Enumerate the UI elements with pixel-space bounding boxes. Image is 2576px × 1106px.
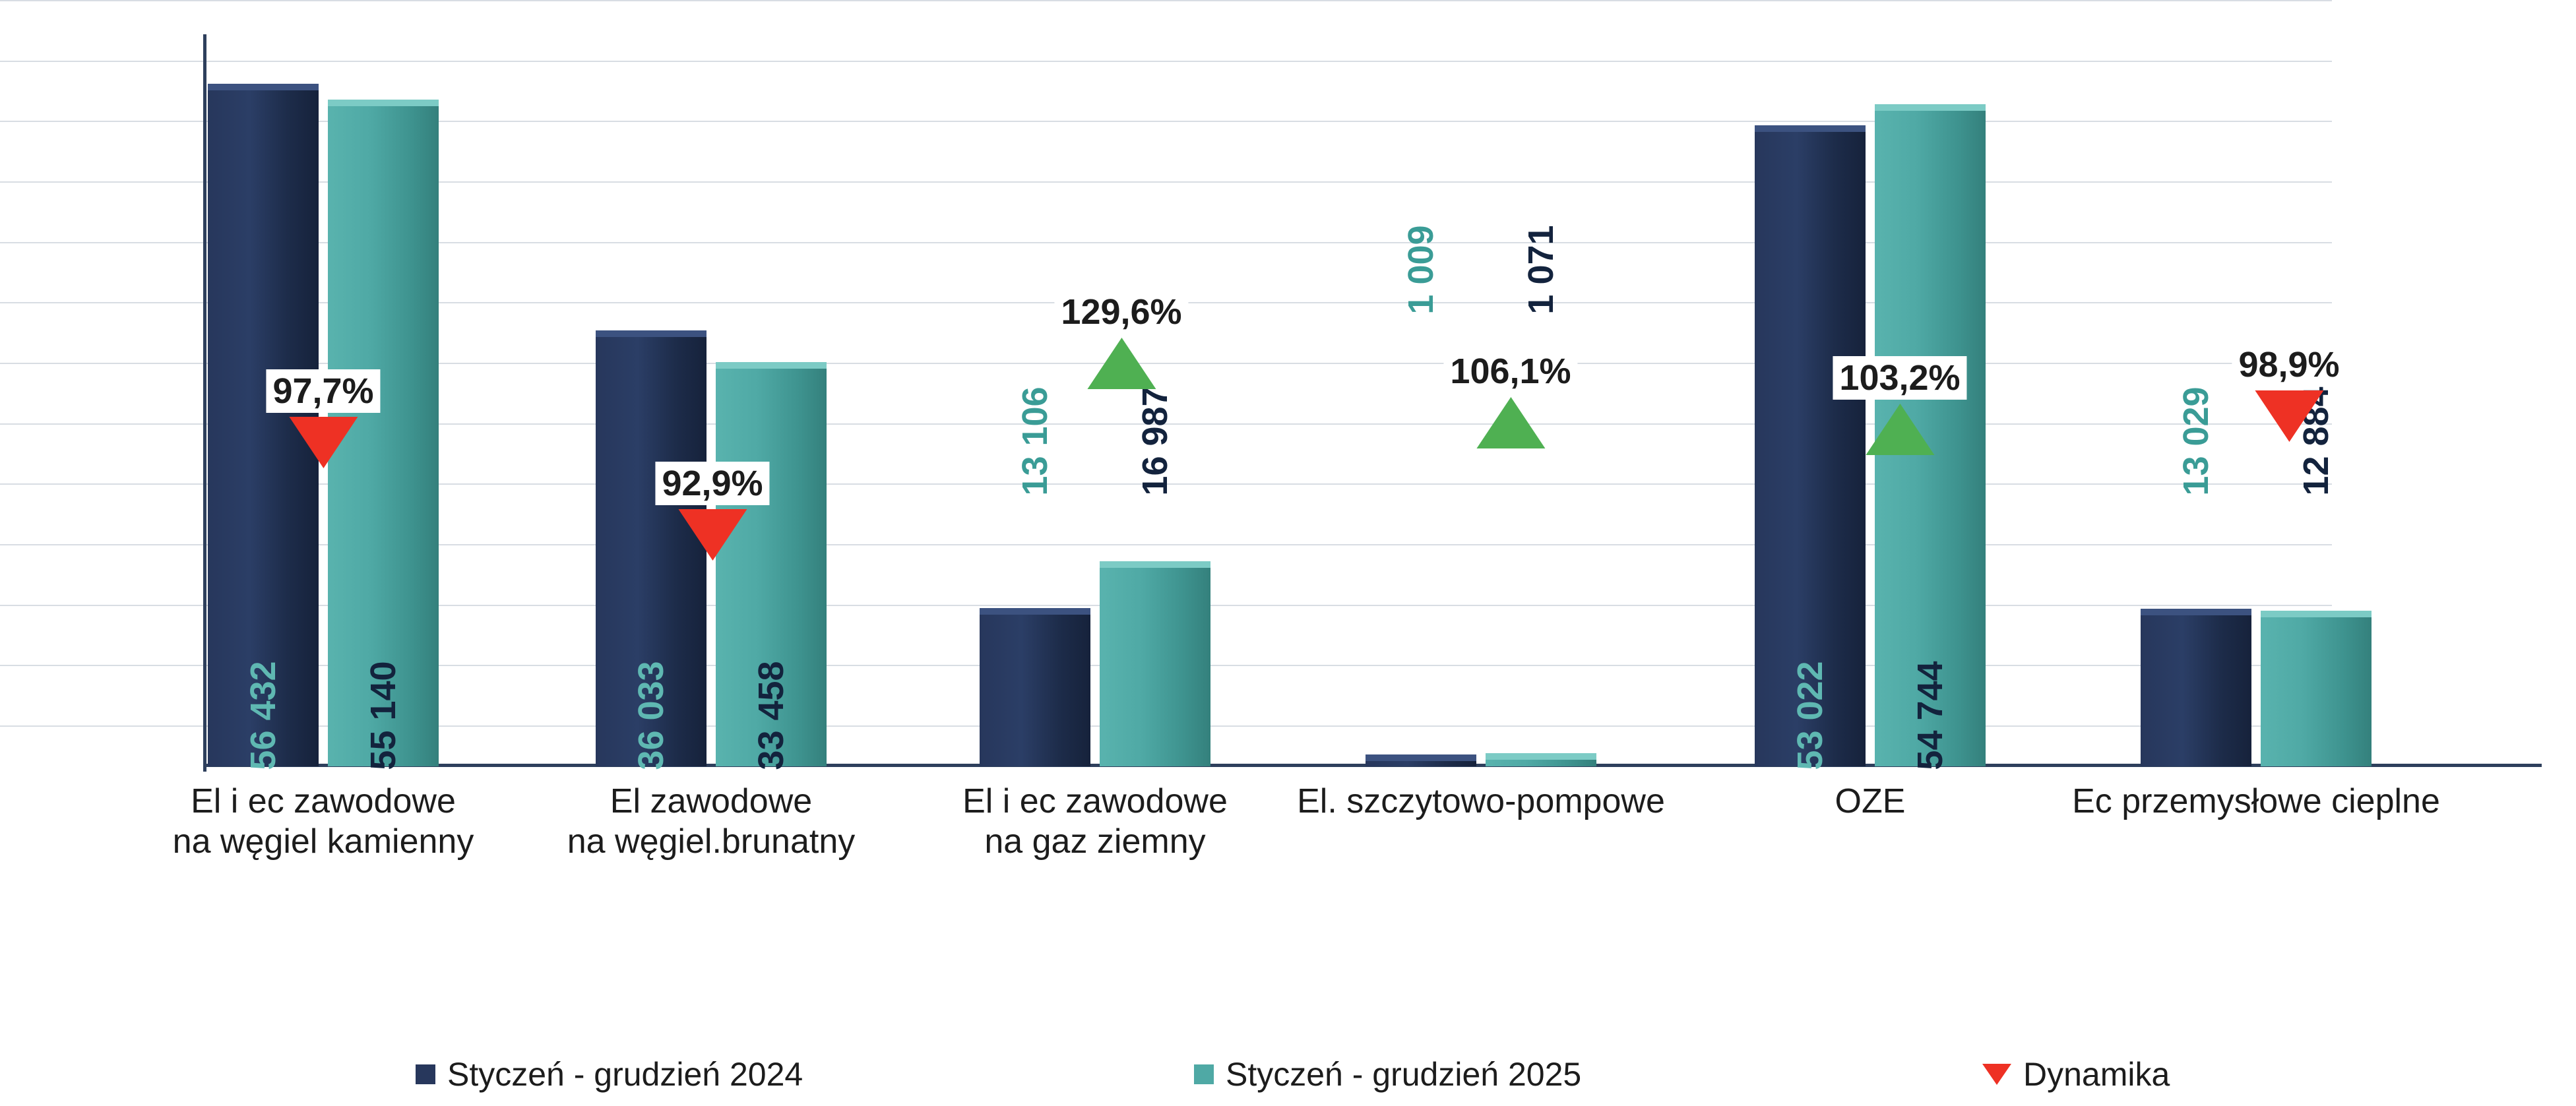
triangle-down-icon — [1982, 1064, 2011, 1085]
bar-2024[interactable] — [2141, 609, 2251, 766]
triangle-up-icon — [1087, 338, 1156, 389]
bar-value-label: 56 432 — [243, 661, 284, 770]
dynamics-marker: 103,2% — [1833, 356, 1966, 455]
x-axis-label-line: Ec przemysłowe cieplne — [2072, 782, 2440, 822]
bar-value-label: 33 458 — [751, 661, 792, 770]
bar-2025[interactable] — [1486, 753, 1596, 766]
triangle-down-icon — [678, 509, 747, 561]
x-axis-label-line: El i ec zawodowe — [173, 782, 474, 822]
bar-value-label: 1 009 — [1400, 225, 1441, 314]
bar-value-label: 16 987 — [1135, 386, 1176, 495]
x-axis-label: El i ec zawodowena węgiel kamienny — [173, 782, 474, 863]
bar-2024[interactable] — [1366, 754, 1476, 766]
dynamics-percent-label: 103,2% — [1833, 356, 1966, 400]
bar-value-label: 53 022 — [1790, 661, 1831, 770]
bar-value-label: 55 140 — [363, 661, 404, 770]
bar-value-label: 36 033 — [631, 661, 672, 770]
x-axis-label-line: OZE — [1835, 782, 1906, 822]
x-axis-label-line: na węgiel kamienny — [173, 822, 474, 862]
bar-front-face — [2261, 617, 2372, 766]
gridline — [0, 0, 2332, 1]
bar-group: 36 03333 458 — [596, 41, 827, 766]
x-axis-label: El i ec zawodowena gaz ziemny — [962, 782, 1228, 863]
dynamics-percent-label: 129,6% — [1054, 290, 1188, 334]
bar-front-face — [2141, 615, 2251, 766]
bar-front-face — [1100, 568, 1210, 766]
triangle-down-icon — [289, 417, 358, 468]
triangle-down-icon — [2255, 390, 2323, 442]
bar-2025[interactable] — [2261, 611, 2372, 766]
bar-front-face — [1486, 760, 1596, 766]
bar-value-label: 1 071 — [1521, 225, 1561, 314]
legend-item[interactable]: Styczeń - grudzień 2025 — [1194, 1055, 1581, 1093]
dynamics-percent-label: 106,1% — [1443, 350, 1577, 393]
x-axis-label: El zawodowena węgiel.brunatny — [567, 782, 856, 863]
chart-legend: Styczeń - grudzień 2024Styczeń - grudzie… — [0, 1055, 2576, 1101]
bar-value-label: 54 744 — [1910, 661, 1951, 770]
legend-color-swatch — [416, 1064, 435, 1084]
legend-color-swatch — [1194, 1064, 1214, 1084]
legend-item[interactable]: Dynamika — [1982, 1055, 2170, 1093]
dynamics-marker: 106,1% — [1443, 350, 1577, 448]
triangle-up-icon — [1476, 397, 1545, 448]
bar-front-face — [1366, 761, 1476, 766]
bar-group: 13 10616 987 — [980, 41, 1210, 766]
x-axis-label-line: El i ec zawodowe — [962, 782, 1228, 822]
x-axis-label-line: El. szczytowo-pompowe — [1297, 782, 1665, 822]
bar-value-label: 13 106 — [1015, 386, 1055, 495]
legend-label: Dynamika — [2023, 1055, 2170, 1093]
x-axis-label: El. szczytowo-pompowe — [1297, 782, 1665, 822]
dynamics-marker: 98,9% — [2232, 343, 2346, 442]
bar-2024[interactable] — [980, 608, 1090, 766]
x-axis-label-line: na węgiel.brunatny — [567, 822, 856, 862]
dynamics-marker: 97,7% — [266, 369, 380, 468]
legend-item[interactable]: Styczeń - grudzień 2024 — [416, 1055, 803, 1093]
chart-container: 05 00010 00015 00020 00025 00030 00035 0… — [0, 0, 2576, 1106]
x-axis-label: OZE — [1835, 782, 1906, 822]
bar-value-label: 13 029 — [2176, 386, 2216, 495]
bar-2025[interactable] — [1100, 561, 1210, 766]
plot-area: 56 43255 14036 03333 45813 10616 9871 00… — [204, 41, 2536, 766]
dynamics-percent-label: 97,7% — [266, 369, 380, 413]
legend-label: Styczeń - grudzień 2024 — [447, 1055, 803, 1093]
x-axis-label-line: na gaz ziemny — [962, 822, 1228, 862]
bar-front-face — [980, 615, 1090, 766]
dynamics-marker: 92,9% — [655, 462, 769, 561]
dynamics-percent-label: 98,9% — [2232, 343, 2346, 386]
dynamics-marker: 129,6% — [1054, 290, 1188, 389]
triangle-up-icon — [1866, 404, 1934, 455]
x-axis-label-line: El zawodowe — [567, 782, 856, 822]
legend-label: Styczeń - grudzień 2025 — [1226, 1055, 1581, 1093]
x-axis-label: Ec przemysłowe cieplne — [2072, 782, 2440, 822]
dynamics-percent-label: 92,9% — [655, 462, 769, 505]
